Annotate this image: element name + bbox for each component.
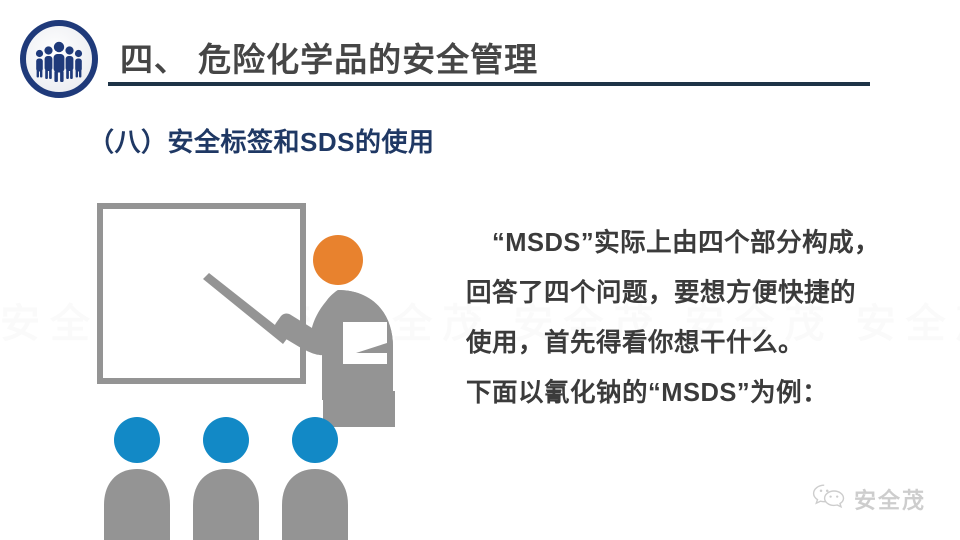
body-line-1: “MSDS”实际上由四个部分构成，: [466, 218, 936, 268]
classroom-presentation-illustration: [90, 195, 430, 540]
people-group-circle-icon: [20, 20, 98, 98]
body-line-2: 回答了四个问题，要想方便快捷的: [466, 268, 936, 318]
audience-figures-icon: [104, 417, 348, 540]
body-line-3: 使用，首先得看你想干什么。: [466, 318, 936, 368]
brand-name-label: 安全茂: [854, 483, 926, 515]
slide-canvas: 四、 危险化学品的安全管理 （八）安全标签和SDS的使用 安全茂 安全茂 安全茂…: [0, 0, 960, 540]
brand-watermark: 安全茂: [812, 482, 926, 515]
body-text-block: “MSDS”实际上由四个部分构成， 回答了四个问题，要想方便快捷的 使用，首先得…: [466, 218, 936, 418]
page-title: 四、 危险化学品的安全管理: [120, 33, 538, 81]
wechat-icon: [812, 482, 846, 515]
body-line-4: 下面以氰化钠的“MSDS”为例：: [466, 368, 936, 418]
section-subtitle: （八）安全标签和SDS的使用: [88, 122, 434, 159]
header-divider: [108, 82, 870, 86]
whiteboard-icon: [100, 206, 303, 381]
